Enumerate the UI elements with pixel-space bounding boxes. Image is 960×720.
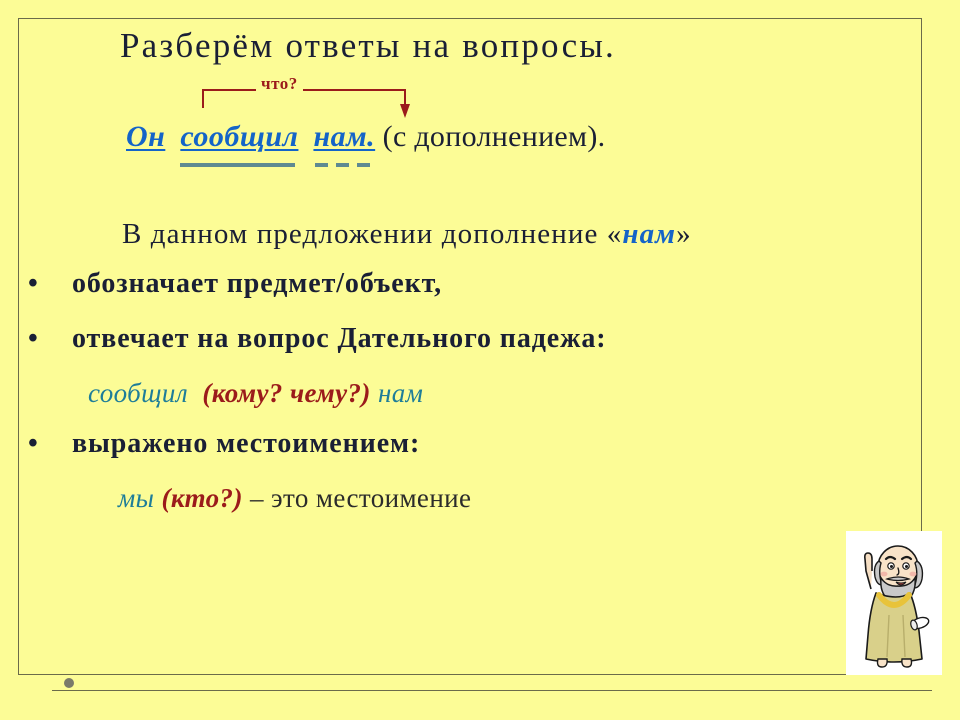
example-line: сообщил (кому? чему?) нам (88, 378, 423, 409)
bullet-marker-icon: • (28, 323, 72, 355)
list-item: •выражено местоимением: (28, 428, 420, 460)
example-space-2 (371, 378, 378, 408)
intro-keyword: нам (622, 218, 676, 250)
sentence-predicate: сообщил (180, 120, 298, 154)
page-title: Разберём ответы на вопросы. (120, 26, 616, 66)
list-item-colon: : (596, 323, 606, 354)
sentence-object: нам. (313, 120, 375, 154)
arrow-question-label: что? (256, 74, 303, 94)
sentence-subject: Он (126, 120, 165, 154)
philosopher-icon (846, 531, 942, 675)
sentence-space-3 (375, 120, 383, 153)
example-answer: – это местоимение (250, 483, 471, 513)
footer-rule (52, 690, 932, 691)
sentence-space-2 (298, 120, 313, 153)
list-item: •отвечает на вопрос Дательного падежа: (28, 323, 606, 355)
list-item-label: выражено местоимением (72, 428, 410, 459)
philosopher-illustration (846, 531, 942, 675)
example-word: сообщил (88, 378, 188, 408)
list-item: •обозначает предмет/объект, (28, 268, 442, 300)
example-space-1 (188, 378, 202, 408)
list-item-label: отвечает на вопрос Дательного падежа (72, 323, 596, 354)
intro-sentence: В данном предложении дополнение «нам» (122, 218, 692, 251)
example-word: мы (118, 483, 154, 513)
list-item-label: обозначает предмет/объект, (72, 268, 442, 299)
footer-placeholder-bullet (64, 678, 74, 688)
example-question: (кто?) (161, 483, 242, 513)
intro-after: » (676, 218, 692, 250)
list-item-colon: : (410, 428, 420, 459)
bullet-marker-icon: • (28, 428, 72, 460)
intro-before: В данном предложении дополнение « (122, 218, 622, 250)
bullet-marker-icon: • (28, 268, 72, 300)
question-arrow-diagram: что? (196, 76, 412, 124)
sentence-space-1 (165, 120, 180, 153)
arrow-icon (196, 76, 412, 124)
sentence-note: (с дополнением). (383, 120, 606, 153)
example-answer: нам (378, 378, 423, 408)
example-question: (кому? чему?) (202, 378, 371, 408)
example-line: мы (кто?) – это местоимение (118, 483, 471, 514)
parsed-sentence: Он сообщил нам. (с дополнением). (126, 120, 605, 154)
example-space-4 (243, 483, 250, 513)
